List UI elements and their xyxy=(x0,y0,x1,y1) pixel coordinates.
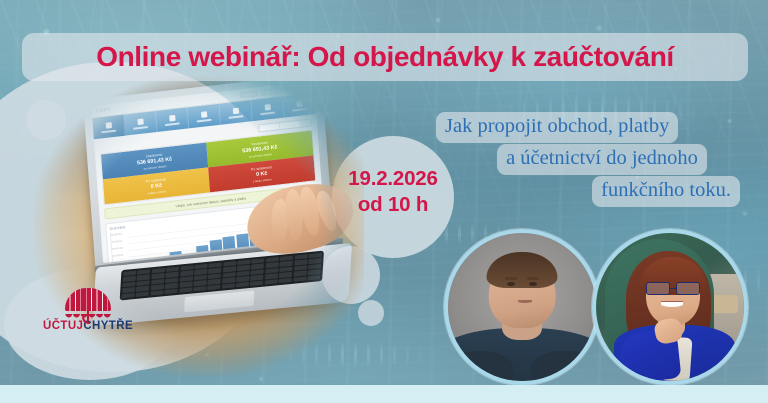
chart-y-tick: 30 000 Kč xyxy=(112,247,123,251)
fapi-user-chip[interactable] xyxy=(240,90,258,98)
man-mouth xyxy=(518,300,533,303)
speaker-woman-photo xyxy=(596,233,744,381)
glasses-icon xyxy=(646,282,699,295)
subtitle-line: Jak propojit obchod, platby xyxy=(436,112,678,143)
fapi-help-chip[interactable] xyxy=(285,86,292,93)
event-date: 19.2.2026 xyxy=(330,166,456,192)
subtitle-line: funkčního toku. xyxy=(592,176,740,207)
tile-sub: z faktur celkem xyxy=(147,189,166,195)
fapi-account-chip[interactable] xyxy=(260,87,282,95)
fapi-logout-chip[interactable] xyxy=(295,84,310,92)
webinar-banner: FAPI xyxy=(0,0,768,403)
laptop-trackpad xyxy=(184,291,254,313)
fapi-nav-tab[interactable] xyxy=(251,97,284,122)
umbrella-icon xyxy=(65,288,111,318)
event-date-block: 19.2.2026 od 10 h xyxy=(330,166,456,218)
man-arm xyxy=(531,351,593,381)
fapi-nav-tab[interactable] xyxy=(92,115,125,140)
man-eyebrow xyxy=(505,277,517,279)
subtitle-line: a účetnictví do jednoho xyxy=(497,144,707,175)
man-eye xyxy=(507,282,514,286)
glasses-bridge xyxy=(670,288,675,290)
brand-word-primary: ÚČTUJ xyxy=(43,320,83,332)
chart-y-tick: 50 000 Kč xyxy=(111,233,122,237)
page-title: Online webinář: Od objednávky k zaúčtová… xyxy=(22,33,748,81)
fapi-nav-tab[interactable] xyxy=(124,111,157,136)
fapi-nav-tab[interactable] xyxy=(283,93,316,118)
man-eye xyxy=(529,282,536,286)
fapi-nav-tab[interactable] xyxy=(219,100,252,125)
speaker-man-photo xyxy=(448,233,596,381)
glasses-lens xyxy=(646,282,669,295)
chart-y-tick: 20 000 Kč xyxy=(113,254,124,258)
fapi-nav-tab[interactable] xyxy=(156,107,189,132)
brand-word-secondary: CHYTŘE xyxy=(83,320,133,332)
man-eyebrow xyxy=(527,277,539,279)
fapi-nav-tab[interactable] xyxy=(188,104,221,129)
bottom-accent-strip xyxy=(0,385,768,403)
glasses-lens xyxy=(676,282,699,295)
chart-y-tick: 40 000 Kč xyxy=(111,240,122,244)
brand-logo[interactable]: ÚČTUJCHYTŘE xyxy=(36,288,140,344)
man-arm xyxy=(451,351,513,381)
subtitle-block: Jak propojit obchod, platby a účetnictví… xyxy=(438,112,756,207)
fapi-logo: FAPI xyxy=(95,107,110,115)
event-time: od 10 h xyxy=(330,192,456,218)
